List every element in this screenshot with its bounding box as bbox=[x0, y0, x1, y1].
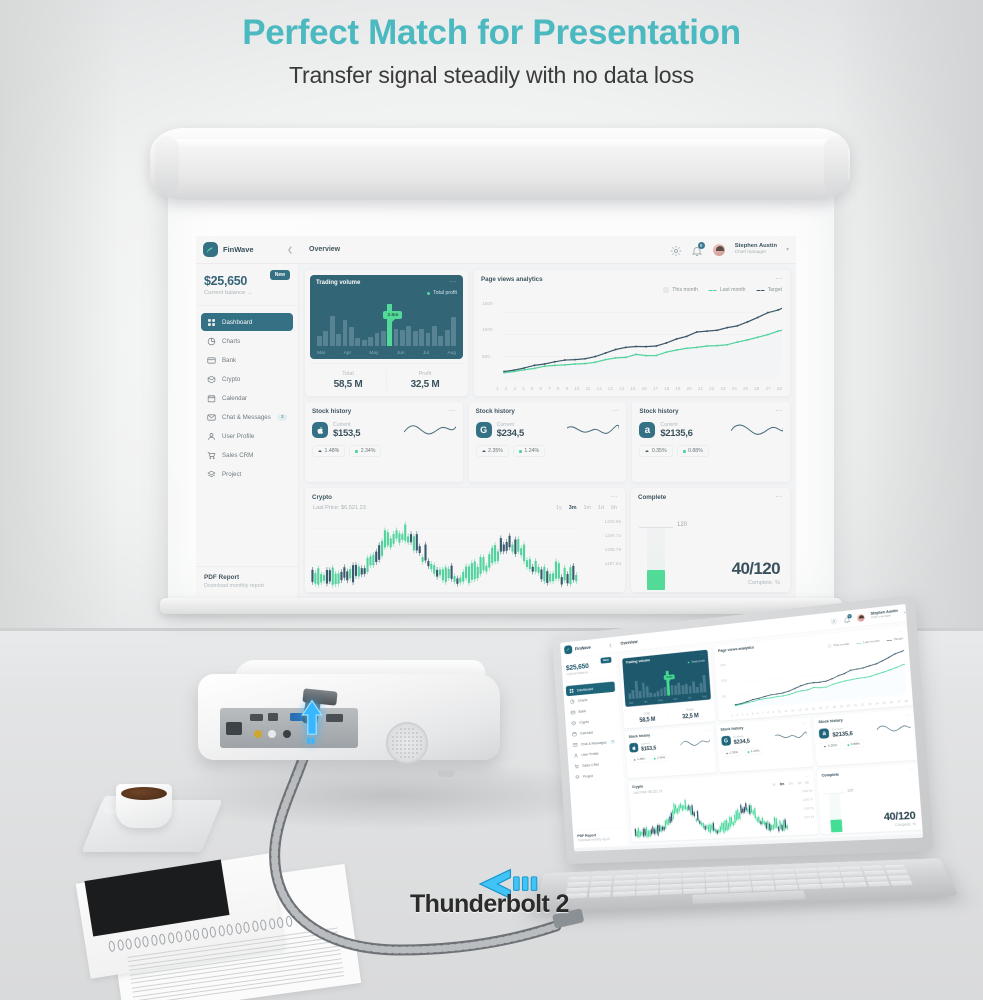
stock-sparkline bbox=[731, 420, 783, 440]
notification-badge: 9 bbox=[698, 242, 705, 249]
layers-icon bbox=[207, 470, 216, 479]
stock-main: Current $153,5 bbox=[305, 415, 463, 440]
user-icon bbox=[207, 432, 216, 441]
y-tick: 1199.74 bbox=[604, 533, 621, 538]
x-tick: 24 bbox=[732, 386, 737, 391]
crypto-range-tabs: 1y 3m 1m 1d 6h bbox=[556, 505, 617, 511]
sidebar: New $25,650 Current balance → Dashboard … bbox=[196, 264, 299, 598]
page-title: Overview bbox=[299, 246, 340, 253]
bar bbox=[368, 337, 373, 346]
x-tick: 20 bbox=[687, 386, 692, 391]
card-crypto: Crypto ⋯ Last Price: $6,521.23 1y 3m 1m … bbox=[305, 488, 625, 592]
screen-cap-right bbox=[824, 136, 848, 194]
sidebar-label: Dashboard bbox=[222, 319, 252, 326]
projector-foot bbox=[438, 770, 454, 777]
power-port bbox=[226, 722, 242, 735]
pdf-report-title: PDF Report bbox=[204, 574, 290, 581]
x-tick: 11 bbox=[586, 386, 591, 391]
dashboard-body: New $25,650 Current balance → Dashboard … bbox=[196, 264, 796, 598]
bar bbox=[445, 330, 450, 346]
range-tab-3m[interactable]: 3m bbox=[569, 505, 577, 511]
card-page-views-analytics: Page views analytics ⋯ This month Last m… bbox=[474, 270, 790, 396]
legend-swatch bbox=[663, 287, 669, 293]
usb-a-port bbox=[250, 714, 263, 721]
crypto-last-price: Last Price: $6,521.23 bbox=[313, 505, 366, 511]
square-icon bbox=[519, 450, 522, 453]
cart-icon bbox=[207, 451, 216, 460]
trading-volume-x-axis: MarAprMayJunJulAug bbox=[317, 351, 456, 356]
y-tick-500: 500 bbox=[482, 355, 490, 360]
bar bbox=[419, 329, 424, 347]
stock-value-block: Current $2135,6 bbox=[660, 422, 692, 439]
wall-shade-right bbox=[833, 0, 983, 640]
more-horizontal-icon[interactable]: ⋯ bbox=[612, 409, 620, 415]
x-tick: Mar bbox=[317, 351, 325, 356]
progress-fill bbox=[647, 570, 665, 590]
sidebar-item-chat-messages[interactable]: Chat & Messages 3 bbox=[201, 408, 293, 426]
x-tick: 1 bbox=[496, 386, 499, 391]
y-tick: 1198.79 bbox=[604, 547, 621, 552]
legend-swatch bbox=[756, 290, 765, 291]
change-pill-primary: 1.48% bbox=[312, 445, 345, 457]
trading-volume-chart: Trading volume ⋯ Total profit 2.5m MarAp… bbox=[310, 275, 463, 359]
projector-body bbox=[198, 674, 500, 760]
triangle-up-icon bbox=[645, 450, 649, 452]
stat-value: 58,5 M bbox=[310, 379, 386, 390]
complete-progress-bar: 120 bbox=[647, 528, 665, 590]
card-title: Complete bbox=[638, 494, 666, 501]
projector-screen-bottom-bar bbox=[160, 598, 842, 614]
hdmi-port bbox=[326, 714, 343, 722]
card-stock-history-apple: Stock history ⋯ Current $153,5 bbox=[305, 402, 463, 482]
sidebar-label: Calendar bbox=[222, 395, 247, 402]
bar bbox=[432, 326, 437, 346]
bar bbox=[438, 336, 443, 347]
brand-block[interactable]: FinWave ❮ bbox=[196, 242, 299, 257]
card-icon bbox=[207, 356, 216, 365]
legend-swatch bbox=[708, 290, 717, 291]
sidebar-item-sales-crm[interactable]: Sales CRM bbox=[201, 446, 293, 464]
x-tick: 27 bbox=[766, 386, 771, 391]
sidebar-item-bank[interactable]: Bank bbox=[201, 351, 293, 369]
change-value: 2.35% bbox=[488, 448, 503, 454]
current-value: $153,5 bbox=[333, 428, 360, 439]
more-horizontal-icon[interactable]: ⋯ bbox=[775, 409, 783, 415]
x-tick: 5 bbox=[531, 386, 534, 391]
calendar-icon bbox=[207, 394, 216, 403]
square-icon bbox=[355, 450, 358, 453]
x-tick: 28 bbox=[777, 386, 782, 391]
progress-max-label: 120 bbox=[677, 522, 687, 528]
x-tick: Aug bbox=[447, 351, 456, 356]
bar bbox=[362, 340, 367, 346]
triangle-up-icon bbox=[482, 450, 486, 452]
stock-header: Stock history ⋯ bbox=[469, 402, 627, 415]
x-tick: 6 bbox=[540, 386, 543, 391]
card-title: Stock history bbox=[312, 408, 351, 415]
stock-change-pills: 2.35% 1.24% bbox=[469, 440, 627, 457]
gear-icon[interactable] bbox=[670, 244, 682, 256]
sidebar-label: Charts bbox=[222, 338, 240, 345]
progress-max-line bbox=[639, 527, 673, 528]
legend-item-last-month[interactable]: Last month bbox=[708, 287, 746, 293]
trading-volume-header: Trading volume ⋯ bbox=[316, 280, 457, 286]
stat-value: 32,5 M bbox=[387, 379, 463, 390]
x-tick: 12 bbox=[597, 386, 602, 391]
y-tick-1000: 1000 bbox=[482, 328, 493, 333]
card-stock-history-amazon: Stock history ⋯ a Current $2135,6 bbox=[632, 402, 790, 482]
x-tick: 9 bbox=[566, 386, 569, 391]
change-pill-secondary: 2.34% bbox=[349, 445, 381, 457]
stock-main: a Current $2135,6 bbox=[632, 415, 790, 440]
trading-volume-tooltip: 2.5m bbox=[383, 311, 402, 319]
projector-screen-housing bbox=[150, 128, 850, 200]
user-role: Chief manager bbox=[735, 250, 777, 256]
x-tick: 15 bbox=[630, 386, 635, 391]
bar bbox=[330, 316, 335, 346]
stock-value-block: Current $234,5 bbox=[497, 422, 524, 439]
stat-label: Profit bbox=[387, 371, 463, 377]
change-value: 2.34% bbox=[361, 448, 376, 454]
bar bbox=[336, 334, 341, 346]
page-views-x-axis: 1234567891011121314151617181920212223242… bbox=[474, 386, 790, 396]
usb-b-port bbox=[268, 713, 278, 721]
complete-header: Complete ⋯ bbox=[631, 488, 790, 501]
x-tick: 13 bbox=[608, 386, 613, 391]
change-pill-secondary: 0.88% bbox=[677, 445, 709, 457]
brand-name: FinWave bbox=[223, 245, 254, 254]
chevron-left-icon[interactable]: ❮ bbox=[287, 246, 299, 254]
legend-label: Last month bbox=[720, 287, 746, 293]
change-value: 1.24% bbox=[524, 448, 539, 454]
bell-icon[interactable]: 9 bbox=[691, 244, 703, 256]
trading-volume-stats: Total 58,5 M Profit 32,5 M bbox=[310, 363, 463, 390]
amazon-icon: a bbox=[639, 422, 655, 438]
balance-widget[interactable]: New $25,650 Current balance → bbox=[196, 264, 298, 306]
sidebar-label: Sales CRM bbox=[222, 452, 253, 459]
current-value: $234,5 bbox=[497, 428, 524, 439]
stat-profit: Profit 32,5 M bbox=[386, 371, 463, 390]
rca-video-port bbox=[254, 730, 262, 738]
crypto-candlestick-plot: 1200.69 1199.74 1198.79 1197.84 bbox=[305, 513, 625, 592]
bar bbox=[400, 330, 405, 346]
grid-icon bbox=[207, 318, 216, 327]
stat-label: Total bbox=[310, 371, 386, 377]
avatar[interactable] bbox=[712, 243, 726, 257]
bar bbox=[375, 333, 380, 346]
sidebar-item-dashboard[interactable]: Dashboard bbox=[201, 313, 293, 331]
rca-audio-left-port bbox=[268, 730, 276, 738]
x-tick: 2 bbox=[505, 386, 508, 391]
x-tick: 8 bbox=[557, 386, 560, 391]
square-icon bbox=[683, 450, 686, 453]
pie-chart-icon bbox=[207, 337, 216, 346]
stock-change-pills: 0.35% 0.88% bbox=[632, 440, 790, 457]
legend-item-target[interactable]: Target bbox=[756, 287, 782, 293]
range-tab-1y[interactable]: 1y bbox=[556, 505, 562, 511]
x-tick: 14 bbox=[619, 386, 624, 391]
x-tick: 17 bbox=[653, 386, 658, 391]
chevron-down-icon[interactable]: ▾ bbox=[786, 246, 789, 253]
change-pill-secondary: 1.24% bbox=[513, 445, 545, 457]
promo-subheadline: Transfer signal steadily with no data lo… bbox=[0, 62, 983, 89]
balance-label: Current balance → bbox=[204, 290, 290, 296]
bar bbox=[413, 331, 418, 346]
x-tick: 10 bbox=[574, 386, 579, 391]
x-tick: 19 bbox=[675, 386, 680, 391]
stock-change-pills: 1.48% 2.34% bbox=[305, 440, 463, 457]
apple-icon bbox=[312, 422, 328, 438]
bar bbox=[343, 320, 348, 346]
bar bbox=[323, 331, 328, 346]
card-stock-history-google: Stock history ⋯ G Current $234,5 bbox=[469, 402, 627, 482]
box-icon bbox=[207, 375, 216, 384]
connection-arrow-icon bbox=[299, 697, 325, 751]
crypto-svg bbox=[305, 513, 625, 592]
x-tick: Jun bbox=[397, 351, 405, 356]
range-tab-6h[interactable]: 6h bbox=[611, 505, 617, 511]
promo-text-block: Perfect Match for Presentation Transfer … bbox=[0, 14, 983, 89]
stock-sparkline bbox=[404, 420, 456, 440]
legend-dot bbox=[427, 292, 430, 295]
screen-cap-left bbox=[155, 136, 179, 194]
more-horizontal-icon[interactable]: ⋯ bbox=[448, 409, 456, 415]
change-pill-primary: 2.35% bbox=[476, 445, 509, 457]
crypto-y-axis: 1200.69 1199.74 1198.79 1197.84 bbox=[604, 519, 621, 566]
card-complete: Complete ⋯ 120 40/120 Complete, % bbox=[631, 488, 790, 592]
change-value: 1.48% bbox=[325, 448, 340, 454]
change-pill-primary: 0.35% bbox=[639, 445, 672, 457]
x-tick: Apr bbox=[344, 351, 351, 356]
page-views-legend: This month Last month Target bbox=[474, 283, 790, 293]
dashboard-main: Trading volume ⋯ Total profit 2.5m MarAp… bbox=[299, 264, 796, 598]
y-tick: 1197.84 bbox=[604, 561, 621, 566]
mail-icon bbox=[207, 413, 216, 422]
dashboard-topbar: FinWave ❮ Overview 9 Stephen Austin Chie… bbox=[196, 236, 796, 264]
pdf-report-block[interactable]: PDF Report Download monthly report bbox=[196, 566, 298, 598]
x-tick: 23 bbox=[720, 386, 725, 391]
x-tick: 16 bbox=[642, 386, 647, 391]
user-meta[interactable]: Stephen Austin Chief manager bbox=[871, 610, 899, 621]
sidebar-label: Project bbox=[222, 471, 241, 478]
chat-unread-count: 3 bbox=[277, 414, 287, 421]
trading-volume-legend: Total profit bbox=[316, 290, 457, 296]
stock-value-block: Current $153,5 bbox=[333, 422, 360, 439]
sidebar-item-charts[interactable]: Charts bbox=[201, 332, 293, 350]
sidebar-item-crypto[interactable]: Crypto bbox=[201, 370, 293, 388]
sidebar-nav: Dashboard Charts Bank Crypto Calendar bbox=[196, 306, 298, 566]
wall-shade-left bbox=[0, 0, 120, 640]
user-meta[interactable]: Stephen Austin Chief manager bbox=[735, 243, 777, 255]
bar bbox=[317, 336, 322, 347]
x-tick: 7 bbox=[548, 386, 551, 391]
page-views-plot: 1500 1000 500 bbox=[482, 295, 782, 383]
more-horizontal-icon[interactable]: ⋯ bbox=[775, 495, 783, 501]
sidebar-item-user-profile[interactable]: User Profile bbox=[201, 427, 293, 445]
chevron-down-icon[interactable]: ▾ bbox=[904, 610, 906, 615]
complete-fraction: 40/120 bbox=[732, 559, 780, 579]
stock-header: Stock history ⋯ bbox=[632, 402, 790, 415]
projector-speaker bbox=[386, 722, 428, 764]
range-tab-1m[interactable]: 1m bbox=[584, 505, 592, 511]
card-title: Crypto bbox=[312, 494, 332, 501]
new-badge: New bbox=[270, 270, 290, 280]
sidebar-label: User Profile bbox=[222, 433, 254, 440]
x-tick: 3 bbox=[513, 386, 516, 391]
bar bbox=[406, 326, 411, 346]
legend-label: Total profit bbox=[433, 290, 457, 296]
bar bbox=[349, 327, 354, 346]
crypto-header: Crypto ⋯ bbox=[305, 488, 625, 501]
legend-label: This month bbox=[672, 287, 698, 293]
dashboard-row-2: Stock history ⋯ Current $153,5 bbox=[305, 402, 790, 482]
wave-logo-icon bbox=[203, 242, 218, 257]
page-views-header: Page views analytics ⋯ bbox=[474, 270, 790, 283]
y-tick-1500: 1500 bbox=[482, 302, 493, 307]
thunderbolt-label: Thunderbolt 2 bbox=[410, 890, 569, 919]
pdf-report-subtitle: Download monthly report bbox=[204, 583, 290, 589]
promo-headline: Perfect Match for Presentation bbox=[0, 14, 983, 53]
complete-readout: 40/120 Complete, % bbox=[732, 559, 780, 590]
x-tick: 26 bbox=[754, 386, 759, 391]
rca-audio-right-port bbox=[283, 730, 291, 738]
sidebar-item-project[interactable]: Project bbox=[201, 465, 293, 483]
card-title: Stock history bbox=[639, 408, 678, 415]
bar bbox=[451, 317, 456, 346]
projected-dashboard: FinWave ❮ Overview 9 Stephen Austin Chie… bbox=[196, 236, 796, 598]
card-title: Trading volume bbox=[316, 280, 360, 286]
dashboard-row-1: Trading volume ⋯ Total profit 2.5m MarAp… bbox=[305, 270, 790, 396]
stat-total: Total 58,5 M bbox=[310, 371, 386, 390]
sidebar-label: Crypto bbox=[222, 376, 240, 383]
x-tick: May bbox=[369, 351, 378, 356]
notification-badge: 9 bbox=[847, 614, 852, 619]
change-value: 0.88% bbox=[688, 448, 703, 454]
stock-sparkline bbox=[567, 420, 619, 440]
x-tick: 18 bbox=[664, 386, 669, 391]
x-tick: 22 bbox=[709, 386, 714, 391]
bar bbox=[381, 331, 386, 346]
card-title: Page views analytics bbox=[481, 276, 543, 283]
page-views-svg bbox=[482, 295, 782, 383]
stock-header: Stock history ⋯ bbox=[305, 402, 463, 415]
dashboard-row-3: Crypto ⋯ Last Price: $6,521.23 1y 3m 1m … bbox=[305, 488, 790, 592]
x-tick: 4 bbox=[522, 386, 525, 391]
change-value: 0.35% bbox=[652, 448, 667, 454]
range-tab-1d[interactable]: 1d bbox=[598, 505, 604, 511]
google-icon: G bbox=[476, 422, 492, 438]
topbar-actions: 9 Stephen Austin Chief manager ▾ bbox=[670, 243, 796, 257]
complete-body: 120 40/120 Complete, % bbox=[631, 501, 790, 592]
projector bbox=[198, 660, 518, 770]
legend-item-this-month[interactable]: This month bbox=[663, 287, 698, 293]
more-horizontal-icon[interactable]: ⋯ bbox=[610, 495, 618, 501]
y-tick: 1200.69 bbox=[604, 519, 621, 524]
more-horizontal-icon[interactable]: ⋯ bbox=[775, 277, 783, 283]
x-tick: 25 bbox=[743, 386, 748, 391]
current-value: $2135,6 bbox=[660, 428, 692, 439]
bar bbox=[394, 329, 399, 347]
x-tick: Jul bbox=[423, 351, 429, 356]
card-title: Stock history bbox=[476, 408, 515, 415]
legend-label: Target bbox=[768, 287, 782, 293]
sidebar-label: Bank bbox=[222, 357, 236, 364]
thunderbolt-badge: Thunderbolt 2 bbox=[410, 872, 620, 928]
sidebar-item-calendar[interactable]: Calendar bbox=[201, 389, 293, 407]
bar bbox=[355, 338, 360, 346]
complete-caption: Complete, % bbox=[732, 580, 780, 586]
triangle-up-icon bbox=[318, 450, 322, 452]
stock-main: G Current $234,5 bbox=[469, 415, 627, 440]
crypto-subheader: Last Price: $6,521.23 1y 3m 1m 1d 6h bbox=[305, 501, 625, 511]
card-trading-volume: Trading volume ⋯ Total profit 2.5m MarAp… bbox=[305, 270, 468, 396]
bar bbox=[426, 333, 431, 346]
sidebar-label: Chat & Messages bbox=[222, 414, 271, 421]
x-tick: 21 bbox=[698, 386, 703, 391]
more-horizontal-icon[interactable]: ⋯ bbox=[449, 280, 457, 286]
